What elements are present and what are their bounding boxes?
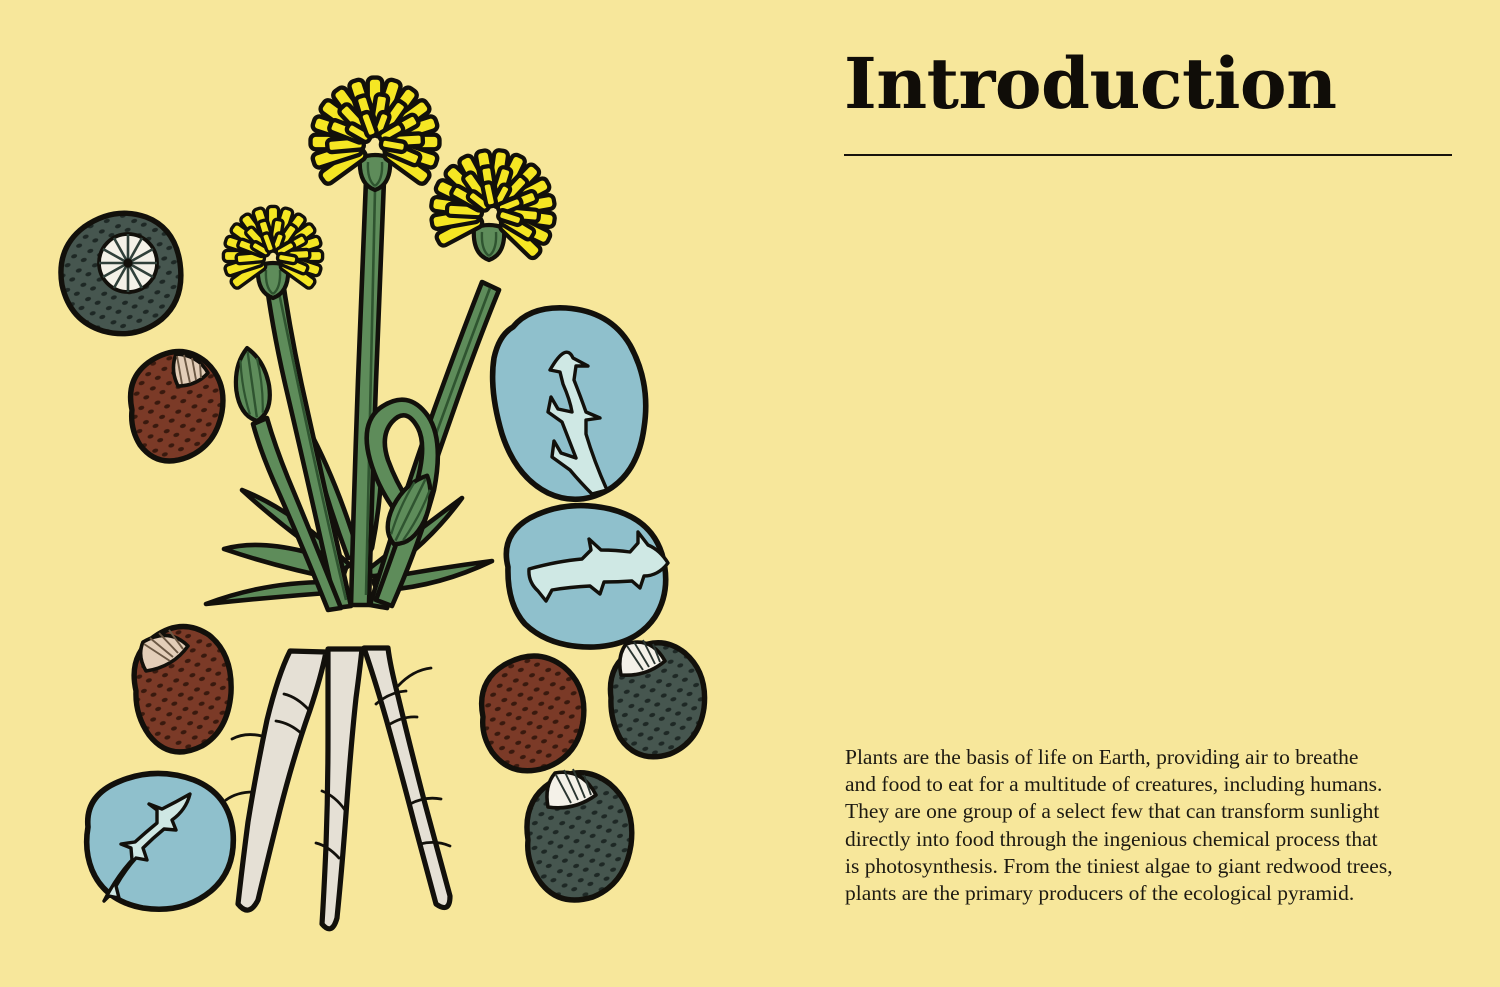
illustration-panel <box>0 0 810 987</box>
book-spread-page: Introduction Plants are the basis of lif… <box>0 0 1500 987</box>
flower-right <box>426 142 563 262</box>
flower-center <box>311 78 440 190</box>
dandelion-illustration <box>10 20 770 970</box>
seed-brown-center-right <box>482 656 584 771</box>
seed-teal-top-left <box>61 213 181 333</box>
pappus-disc <box>99 234 157 292</box>
text-panel: Introduction Plants are the basis of lif… <box>810 0 1500 987</box>
bud-upright <box>231 346 274 423</box>
leaf-blue-upper-right <box>493 308 646 499</box>
seed-teal-right <box>610 640 704 757</box>
leaf-blue-lower-left <box>87 773 234 909</box>
seed-brown-mid-left <box>134 626 231 751</box>
title-divider <box>844 154 1452 156</box>
flower-left <box>223 206 322 298</box>
taproot <box>226 648 450 929</box>
seed-brown-upper-left <box>131 351 223 461</box>
rosette-leaves <box>206 424 492 604</box>
seed-teal-bottom-right <box>527 769 632 900</box>
leaf-blue-mid-right <box>506 506 668 647</box>
page-title: Introduction <box>844 44 1337 124</box>
intro-paragraph: Plants are the basis of life on Earth, p… <box>845 744 1457 907</box>
